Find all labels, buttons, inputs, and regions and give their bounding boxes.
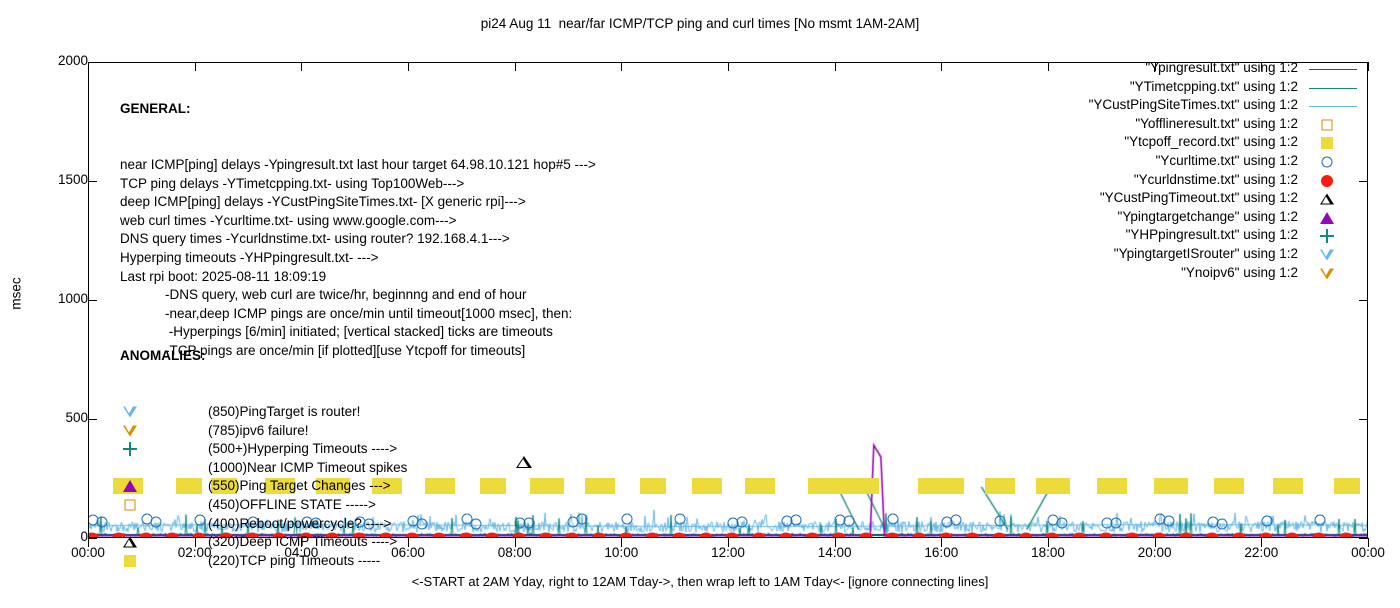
legend-key-line-lightblue: [1309, 106, 1357, 107]
y-tick-label: 1500: [8, 172, 88, 187]
general-note-line: TCP ping delays -YTimetcpping.txt- using…: [120, 175, 596, 194]
y-tick-mark-right: [1359, 538, 1368, 539]
legend-entry-key: [1305, 265, 1365, 284]
anomaly-marker: [120, 422, 140, 441]
legend-entry-label: "YpingtargetISrouter" using 1:2: [1114, 246, 1298, 261]
legend-entry: "Ycurltime.txt" using 1:2: [978, 153, 1298, 172]
legend: "Ypingresult.txt" using 1:2"YTimetcpping…: [978, 60, 1298, 283]
triangle-down-open-icon: [1320, 249, 1334, 260]
legend-entry: "Ycurldnstime.txt" using 1:2: [978, 172, 1298, 191]
anomaly-marker: [120, 515, 140, 534]
general-note-line: Last rpi boot: 2025-08-11 18:09:19: [120, 268, 596, 287]
x-tick-mark: [515, 538, 516, 547]
square-open-icon: [125, 499, 136, 510]
circle-filled-icon: [1321, 175, 1333, 187]
page-title: pi24 Aug 11 near/far ICMP/TCP ping and c…: [0, 16, 1400, 31]
anomaly-marker: [120, 459, 140, 478]
x-tick-label: 18:00: [1013, 545, 1083, 560]
legend-entry-label: "YHPpingresult.txt" using 1:2: [1126, 227, 1298, 242]
legend-entry: "YHPpingresult.txt" using 1:2: [978, 227, 1298, 246]
y-tick-mark: [88, 538, 97, 539]
legend-entry: "Ypingresult.txt" using 1:2: [978, 60, 1298, 79]
legend-entry-key: [1305, 246, 1365, 265]
anomaly-row: (450)OFFLINE STATE ----->: [120, 496, 407, 515]
x-tick-mark: [941, 538, 942, 547]
anomaly-label: (850)PingTarget is router!: [208, 403, 360, 422]
anomaly-label: (450)OFFLINE STATE ----->: [208, 496, 376, 515]
legend-entry-key: [1305, 172, 1365, 191]
anomalies-heading: ANOMALIES:: [120, 347, 407, 366]
legend-entry-key: [1305, 79, 1365, 98]
anomaly-label: (1000)Near ICMP Timeout spikes: [208, 459, 407, 478]
triangle-down-open-icon: [123, 406, 137, 417]
triangle-down-open-icon: [123, 425, 137, 436]
anomalies-notes: ANOMALIES: (850)PingTarget is router!(78…: [120, 310, 407, 608]
plus-icon: [1320, 229, 1334, 243]
legend-entry-key: [1305, 190, 1365, 209]
general-note-line: web curl times -Ycurltime.txt- using www…: [120, 212, 596, 231]
legend-entry-key: [1305, 134, 1365, 153]
anomaly-row: (320)Deep ICMP Timeouts ---->: [120, 533, 407, 552]
y-tick-label: 1000: [8, 291, 88, 306]
x-tick-mark: [621, 538, 622, 547]
anomaly-row: (1000)Near ICMP Timeout spikes: [120, 459, 407, 478]
legend-entry-key: [1305, 60, 1365, 79]
legend-entry-label: "Ycurltime.txt" using 1:2: [1156, 153, 1298, 168]
x-tick-mark: [1261, 538, 1262, 547]
legend-entry-key: [1305, 97, 1365, 116]
legend-entry: "Ytcpoff_record.txt" using 1:2: [978, 134, 1298, 153]
general-note-line: Hyperping timeouts -YHPpingresult.txt- -…: [120, 249, 596, 268]
square-open-icon: [1322, 119, 1333, 130]
anomaly-marker: [120, 496, 140, 515]
x-tick-label: 00:00: [1333, 545, 1400, 560]
x-tick-mark: [1155, 538, 1156, 547]
legend-entry: "YTimetcpping.txt" using 1:2: [978, 79, 1298, 98]
legend-entry-label: "YCustPingTimeout.txt" using 1:2: [1100, 190, 1298, 205]
legend-entry: "YpingtargetISrouter" using 1:2: [978, 246, 1298, 265]
anomaly-marker: [120, 403, 140, 422]
triangle-up-open-icon: [123, 537, 137, 548]
y-tick-label: 0: [8, 529, 88, 544]
x-tick-label: 12:00: [693, 545, 763, 560]
square-filled-icon: [1321, 137, 1333, 149]
x-tick-label: 16:00: [906, 545, 976, 560]
x-tick-label: 14:00: [800, 545, 870, 560]
anomaly-row: (400)Reboot/powercycle? ---->: [120, 515, 407, 534]
general-note-line: deep ICMP[ping] delays -YCustPingSiteTim…: [120, 193, 596, 212]
x-tick-mark: [88, 538, 89, 547]
legend-key-line-teal: [1309, 88, 1357, 89]
legend-entry: "Ynoipv6" using 1:2: [978, 265, 1298, 284]
legend-entry-key: [1305, 209, 1365, 228]
y-tick-label: 500: [8, 410, 88, 425]
x-tick-label: 00:00: [53, 545, 123, 560]
x-tick-mark: [1048, 538, 1049, 547]
triangle-up-filled-icon: [1320, 212, 1334, 224]
legend-entry: "Yofflineresult.txt" using 1:2: [978, 116, 1298, 135]
x-tick-label: 08:00: [480, 545, 550, 560]
anomaly-marker: [120, 477, 140, 496]
anomaly-label: (550)Ping Target Changes --->: [208, 477, 390, 496]
anomaly-label: (785)ipv6 failure!: [208, 422, 309, 441]
anomaly-marker: [120, 533, 140, 552]
x-tick-label: 22:00: [1226, 545, 1296, 560]
legend-entry-label: "Ypingtargetchange" using 1:2: [1118, 209, 1298, 224]
triangle-up-filled-icon: [123, 480, 137, 492]
legend-entry: "YCustPingTimeout.txt" using 1:2: [978, 190, 1298, 209]
anomaly-row: (220)TCP ping Timeouts -----: [120, 552, 407, 571]
triangle-up-open-icon: [1320, 194, 1334, 205]
x-tick-mark: [728, 538, 729, 547]
anomaly-row: (550)Ping Target Changes --->: [120, 477, 407, 496]
x-tick-mark: [835, 538, 836, 547]
general-note-line: -DNS query, web curl are twice/hr, begin…: [120, 286, 596, 305]
legend-entry-label: "Ypingresult.txt" using 1:2: [1145, 60, 1298, 75]
legend-entry-label: "Ytcpoff_record.txt" using 1:2: [1124, 134, 1298, 149]
square-filled-icon: [124, 555, 136, 567]
anomaly-label: (220)TCP ping Timeouts -----: [208, 552, 380, 571]
legend-entry-key: [1305, 153, 1365, 172]
circle-open-icon: [1322, 156, 1333, 167]
legend-entry-label: "Ycurldnstime.txt" using 1:2: [1134, 172, 1298, 187]
anomaly-marker: [120, 440, 140, 459]
anomaly-row: (785)ipv6 failure!: [120, 422, 407, 441]
anomaly-marker: [120, 552, 140, 571]
anomaly-row: (850)PingTarget is router!: [120, 403, 407, 422]
triangle-down-open-icon: [1320, 268, 1334, 279]
x-tick-mark: [408, 538, 409, 547]
legend-entry-label: "Yofflineresult.txt" using 1:2: [1135, 116, 1298, 131]
x-tick-mark: [1368, 538, 1369, 547]
legend-entry-key: [1305, 227, 1365, 246]
legend-entry-label: "YCustPingSiteTimes.txt" using 1:2: [1089, 97, 1298, 112]
anomaly-label: (400)Reboot/powercycle? ---->: [208, 515, 391, 534]
x-tick-mark-top: [1368, 62, 1369, 71]
anomaly-row: (500+)Hyperping Timeouts ---->: [120, 440, 407, 459]
legend-entry: "YCustPingSiteTimes.txt" using 1:2: [978, 97, 1298, 116]
chart-canvas: pi24 Aug 11 near/far ICMP/TCP ping and c…: [0, 0, 1400, 600]
legend-entry-label: "YTimetcpping.txt" using 1:2: [1130, 79, 1298, 94]
general-heading: GENERAL:: [120, 100, 596, 119]
general-note-line: near ICMP[ping] delays -Ypingresult.txt …: [120, 156, 596, 175]
anomaly-label: (500+)Hyperping Timeouts ---->: [208, 440, 397, 459]
legend-key-line-purple: [1309, 69, 1357, 70]
y-tick-label: 2000: [8, 53, 88, 68]
legend-entry: "Ypingtargetchange" using 1:2: [978, 209, 1298, 228]
plus-icon: [123, 442, 137, 456]
anomaly-label: (320)Deep ICMP Timeouts ---->: [208, 533, 397, 552]
x-axis-caption: <-START at 2AM Yday, right to 12AM Tday-…: [0, 574, 1400, 589]
x-tick-label: 10:00: [586, 545, 656, 560]
legend-entry-label: "Ynoipv6" using 1:2: [1181, 265, 1298, 280]
x-tick-label: 20:00: [1120, 545, 1190, 560]
legend-entry-key: [1305, 116, 1365, 135]
general-note-line: DNS query times -Ycurldnstime.txt- using…: [120, 230, 596, 249]
